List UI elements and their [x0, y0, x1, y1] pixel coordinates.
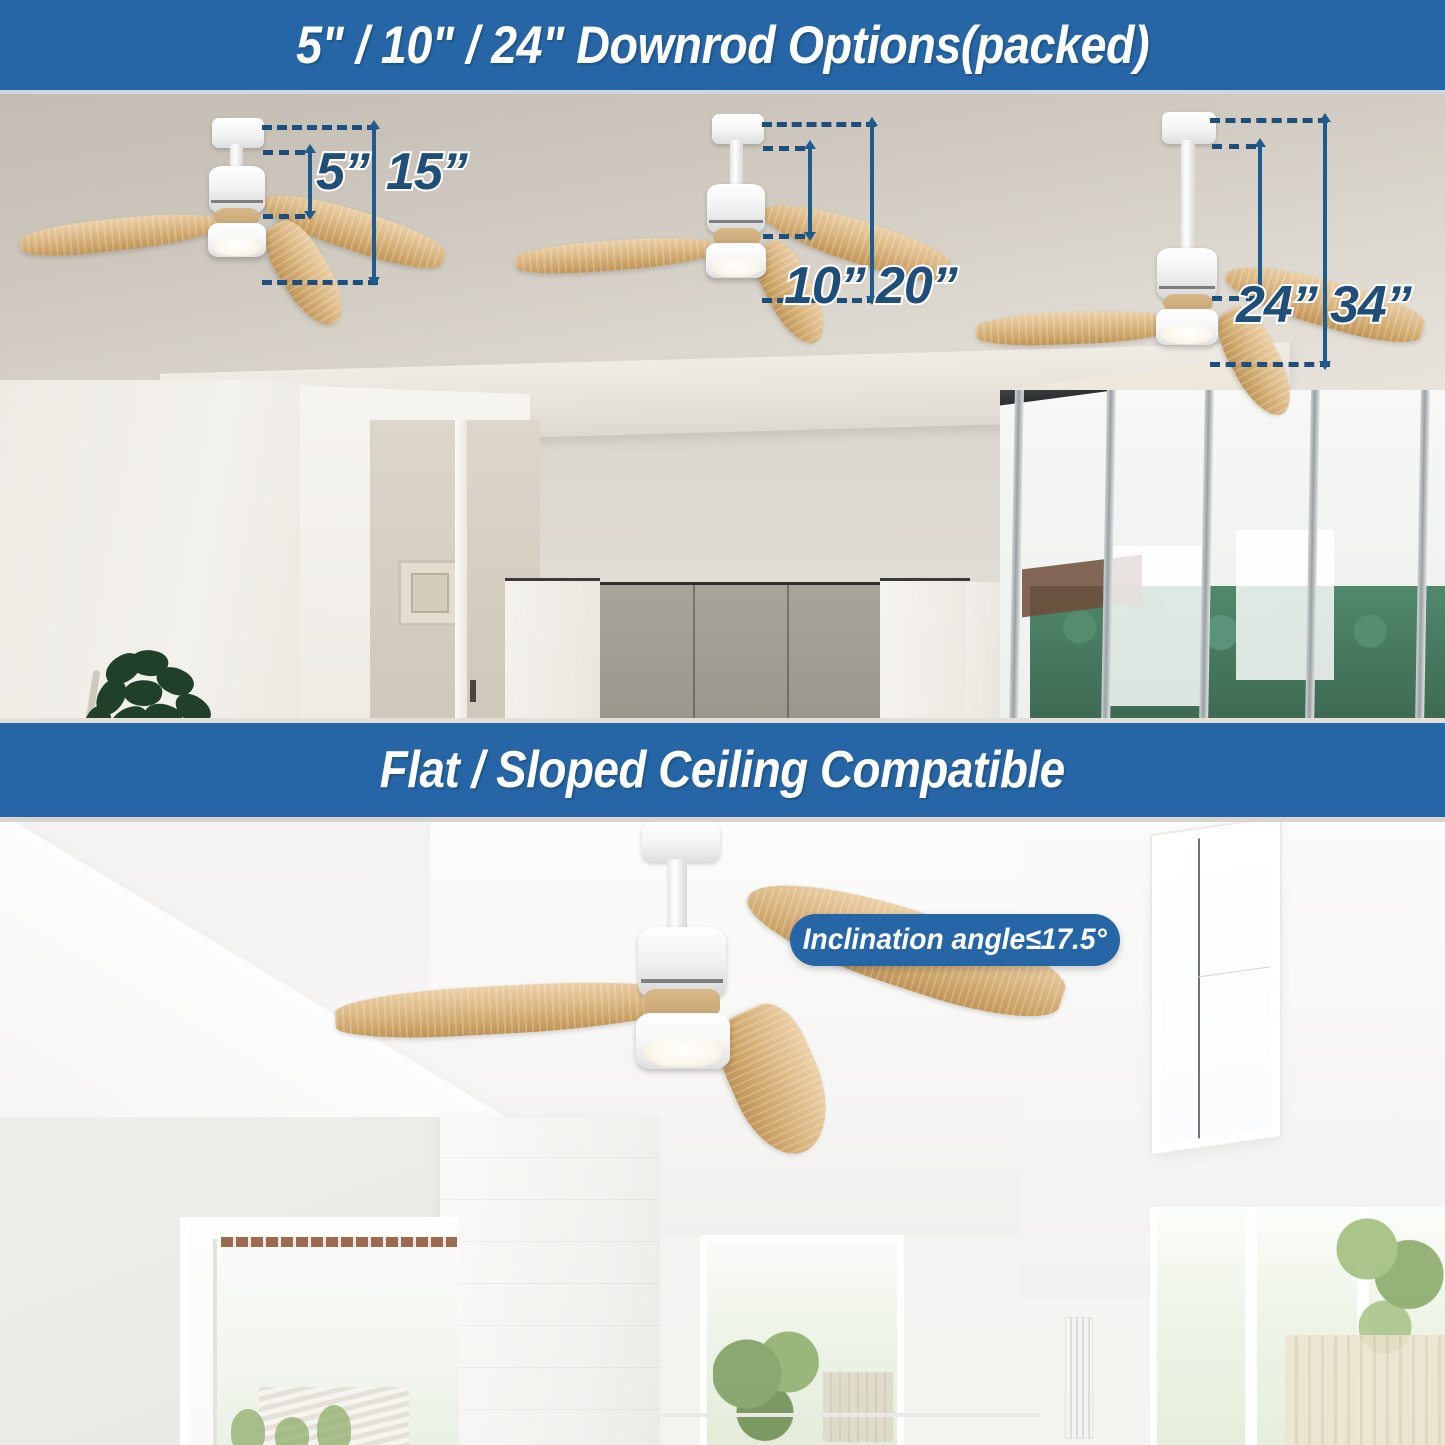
window-mullions	[1000, 390, 1445, 723]
sloped-ceiling-room-photo: Inclination angle≤17.5°	[0, 817, 1445, 1445]
downrod-length-label-10in: 10”	[784, 256, 865, 316]
fan-motor-housing	[707, 184, 765, 234]
dimension-arrow	[372, 128, 376, 278]
downrod	[667, 859, 687, 931]
fan-blade	[514, 233, 726, 278]
door-jamb	[455, 420, 467, 723]
dimension-arrow	[1323, 121, 1327, 362]
dimension-arrow	[308, 152, 312, 212]
downrod	[730, 140, 743, 188]
fan-motor-housing	[209, 166, 265, 214]
ceiling-compatibility-title: Flat / Sloped Ceiling Compatible	[380, 740, 1065, 800]
total-height-label-15in: 15”	[386, 142, 467, 202]
downrod	[1181, 140, 1195, 252]
dimension-arrow	[808, 148, 812, 233]
kitchen-cabinet-center	[600, 582, 880, 723]
ceiling-fan-24in	[950, 90, 1445, 410]
fiddle-leaf-plant	[70, 650, 270, 723]
kitchen-cabinet-right	[880, 578, 970, 723]
downrod-options-title: 5" / 10" / 24" Downrod Options(packed)	[296, 15, 1149, 76]
dimension-arrow	[1258, 146, 1262, 296]
downrod-options-banner: 5" / 10" / 24" Downrod Options(packed)	[0, 0, 1445, 90]
fan-blade	[976, 308, 1187, 347]
led-light-kit	[1156, 309, 1218, 345]
ceiling-compatibility-banner: Flat / Sloped Ceiling Compatible	[0, 723, 1445, 817]
flat-ceiling-room-photo: 5” 15” 10” 20”	[0, 90, 1445, 723]
french-doors-right	[1150, 1207, 1445, 1445]
framed-artwork	[398, 560, 462, 626]
light-switch	[470, 680, 476, 702]
led-light-kit	[208, 223, 266, 257]
clerestory-window	[1152, 818, 1280, 1154]
ceiling-fan-sloped	[300, 817, 1080, 1147]
radiator	[1065, 1317, 1093, 1439]
led-light-kit	[636, 1013, 730, 1069]
fan-blade	[19, 207, 226, 260]
total-height-label-20in: 20”	[876, 256, 957, 316]
chimney-breast	[440, 1117, 660, 1445]
baseboard-trim	[660, 1413, 1040, 1417]
sliding-glass-wall	[1000, 390, 1445, 723]
open-casement-window	[180, 1217, 459, 1445]
kitchen-cabinet-left	[505, 578, 600, 723]
ceiling-fan-5in	[0, 90, 500, 340]
ceiling-mount	[642, 822, 720, 862]
led-light-kit	[706, 243, 766, 278]
inclination-angle-badge: Inclination angle≤17.5°	[790, 914, 1120, 966]
fan-motor-housing	[1157, 248, 1217, 300]
dimension-arrow	[870, 125, 874, 297]
product-infographic: 5" / 10" / 24" Downrod Options(packed)	[0, 0, 1445, 1445]
downrod-length-label-24in: 24”	[1236, 275, 1317, 335]
downrod-length-label-5in: 5”	[316, 142, 369, 202]
inclination-angle-text: Inclination angle≤17.5°	[803, 923, 1107, 957]
total-height-label-34in: 34”	[1330, 275, 1411, 335]
